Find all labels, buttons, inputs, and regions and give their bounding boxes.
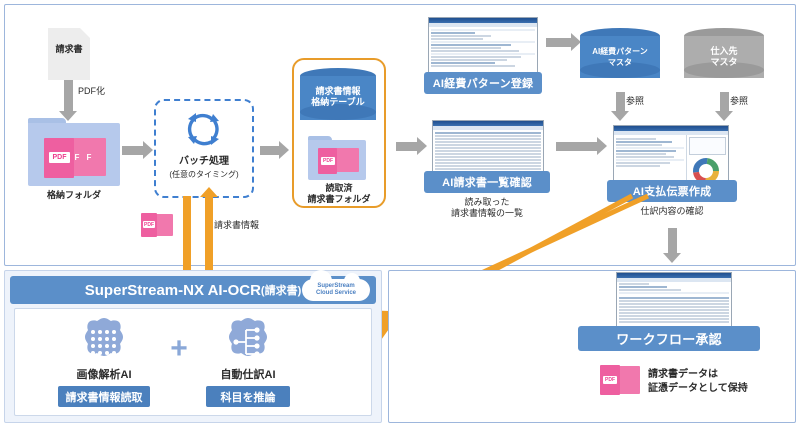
orange-vertical-flow-label: 請求書情報 [214,220,284,231]
image-analysis-ai-title: 画像解析AI [62,370,146,381]
ai-expense-pattern-registration-button[interactable]: AI経費パターン登録 [424,72,542,94]
pdf-badge: PDF [321,157,335,165]
ai-expense-pattern-screenshot [428,17,538,79]
supplier-master-reference-label: 参照 [730,96,764,107]
ai-invoice-list-check-button[interactable]: AI請求書一覧確認 [424,171,550,193]
cloud-badge-text: SuperStream Cloud Service [302,279,370,297]
retention-pdf-icon: PDF [600,364,642,398]
arrow-invoice-list-to-payment-slip [556,142,598,151]
pdf-transfer-icon: PDF [141,212,175,240]
orange-arrow-up-from-ocr [205,196,213,272]
read-invoice-folder-label: 読取済 請求書フォルダ [296,183,382,205]
ai-expense-pattern-master-icon: AI経費パターン マスタ [580,28,660,86]
pdf-badge: PDF [603,376,617,384]
workflow-approval-button[interactable]: ワークフロー承認 [578,326,760,351]
supplier-master-label: 仕入先 マスタ [684,46,764,68]
cycle-refresh-icon [181,106,227,152]
invoice-storage-database-icon: 請求書情報 格納テーブル [300,68,376,128]
superstream-header-title: SuperStream-NX AI-OCR [85,282,261,299]
invoice-storage-database-label: 請求書情報 格納テーブル [300,86,376,108]
plus-sign: + [167,334,191,364]
ai-payment-slip-creation-button[interactable]: AI支払伝票作成 [607,180,737,202]
arrow-folder-to-batch [122,146,144,155]
expense-master-reference-label: 参照 [626,96,660,107]
storage-folder-icon: PDF F F [28,118,120,186]
diagram-canvas: 請求書 PDF化 PDF F F 格納フォルダ [0,0,800,427]
batch-title: バッチ処理 [154,156,254,167]
arrow-table-to-invoice-list [396,142,418,151]
arrow-supplier-master-reference [720,92,729,112]
ai-expense-pattern-master-label: AI経費パターン マスタ [580,46,660,68]
dot-grid-icon [78,316,130,368]
auto-journal-ai-title: 自動仕訳AI [206,370,290,381]
ai-invoice-list-caption: 読み取った 請求書情報の一覧 [420,197,554,219]
retention-note: 請求書データは 証憑データとして保持 [648,368,780,396]
arrow-payment-slip-to-workflow [668,228,677,254]
superstream-header-suffix: (請求書) [261,282,301,298]
ai-invoice-list-screenshot [432,120,544,178]
invoice-document-label: 請求書 [48,44,90,55]
orange-arrow-down-to-ocr [183,196,191,272]
pdf-badge: PDF [49,152,70,163]
tree-node-icon [222,316,274,368]
arrow-registration-to-master [546,38,572,47]
auto-journal-ai-button[interactable]: 科目を推論 [206,386,290,407]
storage-folder-label: 格納フォルダ [20,190,128,201]
image-analysis-ai-button[interactable]: 請求書情報読取 [58,386,150,407]
ai-payment-slip-caption: 仕訳内容の確認 [607,206,737,217]
read-invoice-folder-icon: PDF [308,136,366,180]
pdf-conversion-label: PDF化 [78,86,126,97]
superstream-cloud-badge: SuperStream Cloud Service [302,279,370,301]
pdf-conversion-arrow [64,80,73,112]
arrow-batch-to-table [260,146,280,155]
ai-payment-slip-screenshot [613,125,729,187]
arrow-expense-master-reference [616,92,625,112]
batch-subtitle: (任意のタイミング) [154,170,254,180]
supplier-master-icon: 仕入先 マスタ [684,28,764,86]
